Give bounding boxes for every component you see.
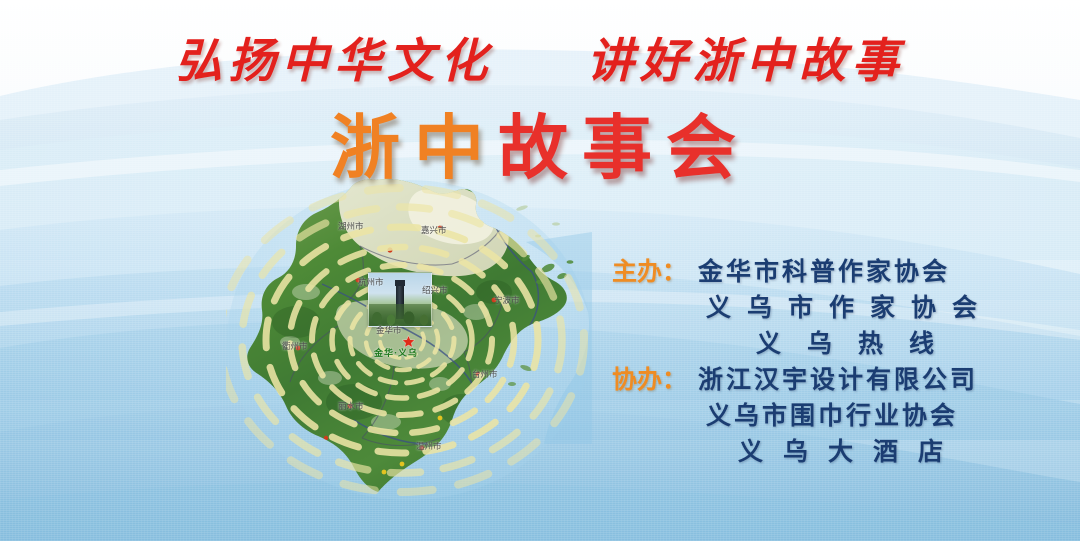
map-city-label: 杭州市 xyxy=(358,276,384,288)
map-city-label: 嘉兴市 xyxy=(421,224,447,236)
map-city-label: 台州市 xyxy=(472,368,498,380)
map-city-label: 丽水市 xyxy=(338,400,364,412)
page-title: 浙中故事会 xyxy=(0,92,1080,193)
credit-line: 义乌大酒店 xyxy=(612,432,993,468)
title-part-red: 故事会 xyxy=(498,111,750,188)
credit-label-cohost: 协办： xyxy=(612,360,698,396)
headline-right: 讲好浙中故事 xyxy=(587,22,905,91)
headline-left: 弘扬中华文化 xyxy=(175,22,493,91)
map-city-label: 温州市 xyxy=(416,440,442,452)
organizer-credits: 主办： 金华市科普作家协会 义乌市作家协会 义乌热线 协办： 浙江汉宇设计有限公… xyxy=(612,252,993,468)
credit-value: 浙江汉宇设计有限公司 xyxy=(698,360,978,396)
trees-shape xyxy=(369,304,431,326)
credit-label-host: 主办： xyxy=(612,252,698,288)
map-city-label: 衢州市 xyxy=(282,340,308,352)
headline-slogan: 弘扬中华文化 讲好浙中故事 xyxy=(0,22,1080,91)
credit-line: 义乌市作家协会 xyxy=(612,288,993,324)
credit-value: 金华市科普作家协会 xyxy=(698,252,950,288)
zhejiang-map-illustration: 金华·义乌 嘉兴市 湖州市 杭州市 绍兴市 宁波市 金华市 衢州市 台州市 丽水… xyxy=(226,172,592,502)
credit-line: 义乌市围巾行业协会 xyxy=(612,396,993,432)
map-marker-label: 金华·义乌 xyxy=(374,346,418,359)
map-city-label: 宁波市 xyxy=(494,294,520,306)
credit-line: 主办： 金华市科普作家协会 xyxy=(612,252,993,288)
poster-canvas: 弘扬中华文化 讲好浙中故事 浙中故事会 xyxy=(0,0,1080,541)
credit-line: 协办： 浙江汉宇设计有限公司 xyxy=(612,360,993,396)
credit-line: 义乌热线 xyxy=(612,324,993,360)
map-city-label: 湖州市 xyxy=(338,220,364,232)
credit-value: 义乌大酒店 xyxy=(698,432,963,468)
map-city-label: 金华市 xyxy=(376,324,402,336)
credit-value: 义乌市作家协会 xyxy=(698,288,993,324)
map-city-label: 绍兴市 xyxy=(422,284,448,296)
credit-value: 义乌热线 xyxy=(698,324,960,360)
title-part-orange: 浙中 xyxy=(330,111,498,188)
credit-value: 义乌市围巾行业协会 xyxy=(698,396,958,432)
